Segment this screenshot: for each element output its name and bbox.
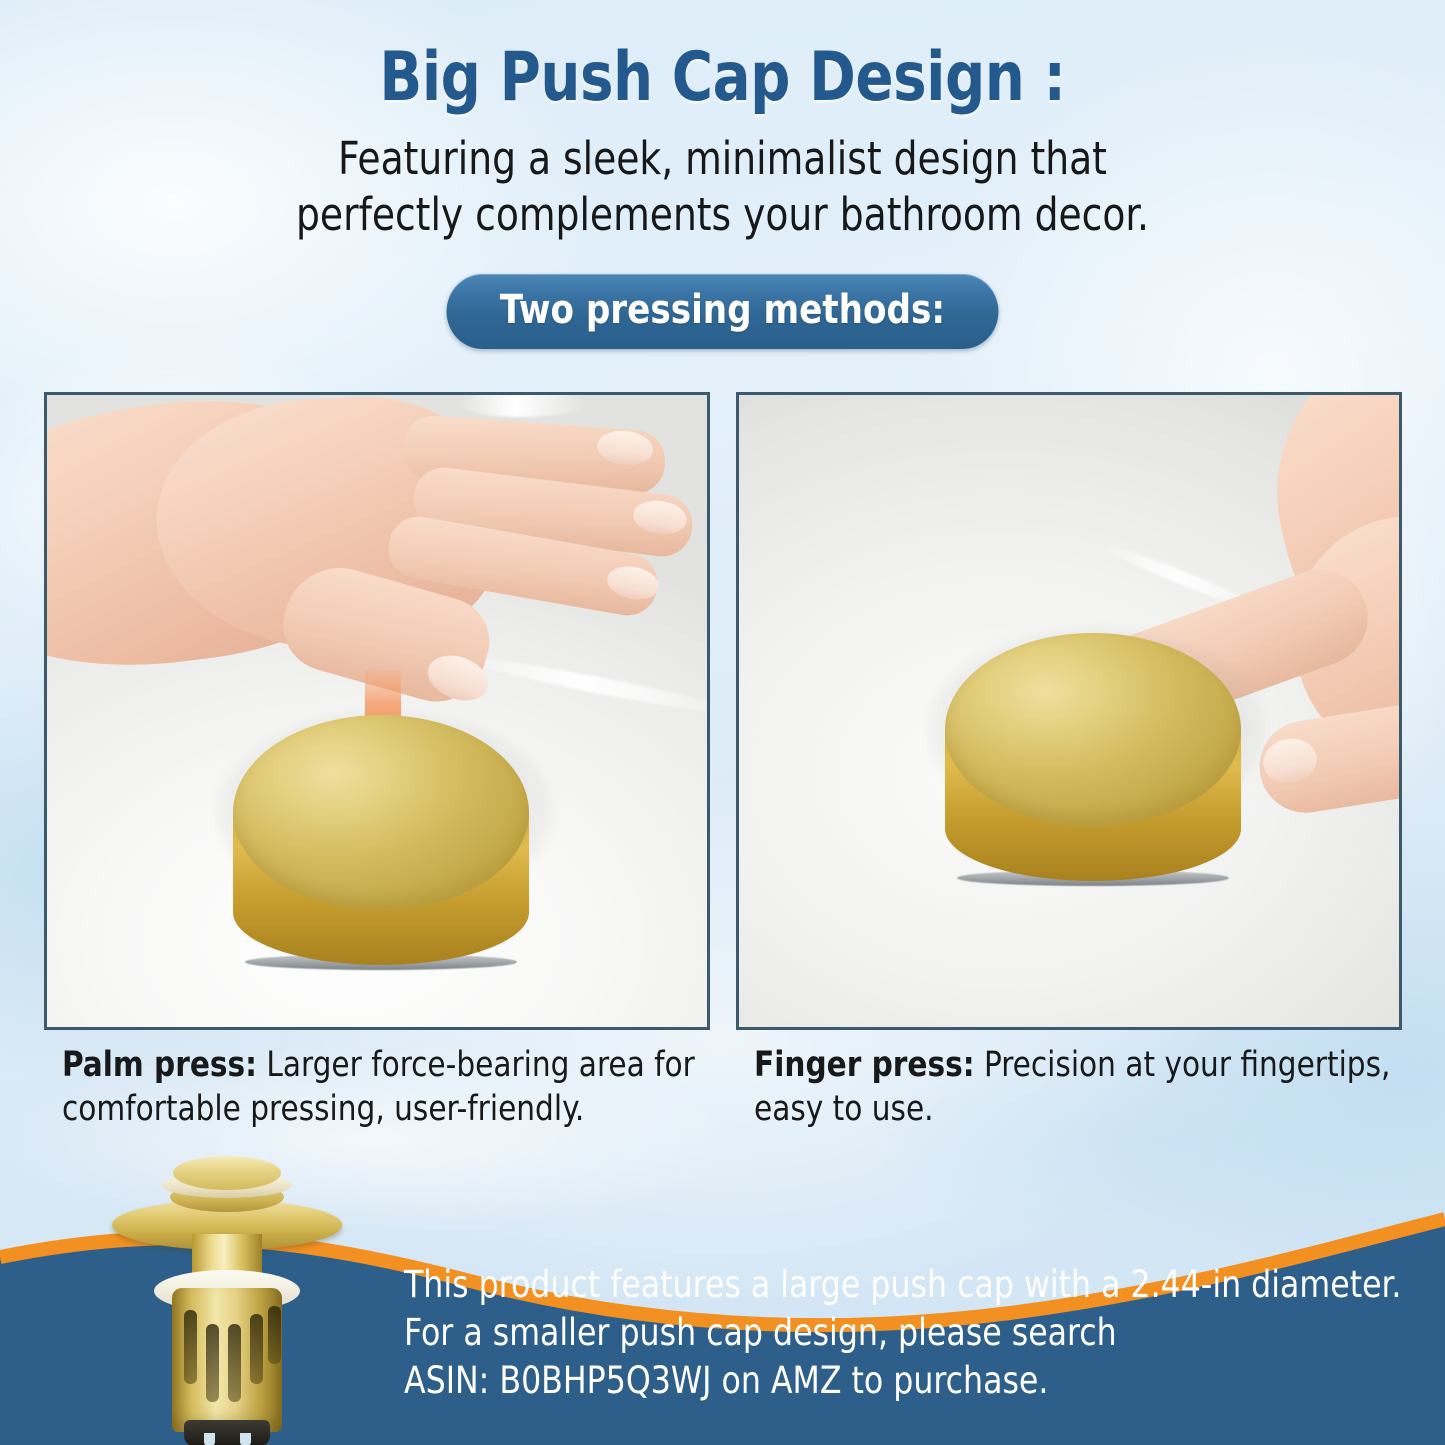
- page-subtitle: Featuring a sleek, minimalist design tha…: [51, 131, 1395, 243]
- subtitle-line-1: Featuring a sleek, minimalist design tha…: [51, 131, 1395, 187]
- product-slot: [228, 1324, 241, 1402]
- cap-top: [945, 633, 1241, 826]
- subtitle-line-2: perfectly complements your bathroom deco…: [51, 187, 1395, 243]
- banner-line-1: This product features a large push cap w…: [404, 1261, 1383, 1309]
- finger-press-caption-label: Finger press:: [754, 1045, 975, 1085]
- pill-banner-container: Two pressing methods:: [0, 274, 1445, 349]
- finger-press-caption: Finger press: Precision at your fingerti…: [754, 1043, 1412, 1131]
- product-base-gap: [204, 1433, 215, 1445]
- gold-push-cap: [945, 633, 1241, 881]
- page-title: Big Push Cap Design :: [58, 38, 1387, 117]
- two-pressing-methods-badge: Two pressing methods:: [447, 274, 999, 349]
- sink-basin-scene: [739, 395, 1399, 1027]
- banner-line-2: For a smaller push cap design, please se…: [404, 1309, 1383, 1357]
- product-cap-top: [173, 1156, 281, 1190]
- banner-message: This product features a large push cap w…: [404, 1261, 1383, 1405]
- gold-push-cap: [233, 715, 529, 965]
- infographic-page: Big Push Cap Design : Featuring a sleek,…: [0, 0, 1445, 1445]
- sink-basin-scene: [47, 395, 707, 1027]
- product-slot: [184, 1310, 197, 1384]
- product-base-gap: [240, 1433, 251, 1445]
- basin-highlight: [457, 392, 587, 417]
- palm-press-caption-label: Palm press:: [62, 1045, 257, 1085]
- product-slot: [268, 1306, 281, 1364]
- banner-line-3: ASIN: B0BHP5Q3WJ on AMZ to purchase.: [404, 1357, 1383, 1405]
- product-slot: [206, 1324, 219, 1402]
- palm-press-caption: Palm press: Larger force-bearing area fo…: [62, 1043, 720, 1131]
- palm-press-photo: [44, 392, 710, 1030]
- product-drain-stopper-image: [92, 1148, 362, 1445]
- product-base: [184, 1420, 270, 1445]
- finger-press-photo: [736, 392, 1402, 1030]
- product-slot: [250, 1314, 263, 1384]
- cap-top: [233, 715, 529, 910]
